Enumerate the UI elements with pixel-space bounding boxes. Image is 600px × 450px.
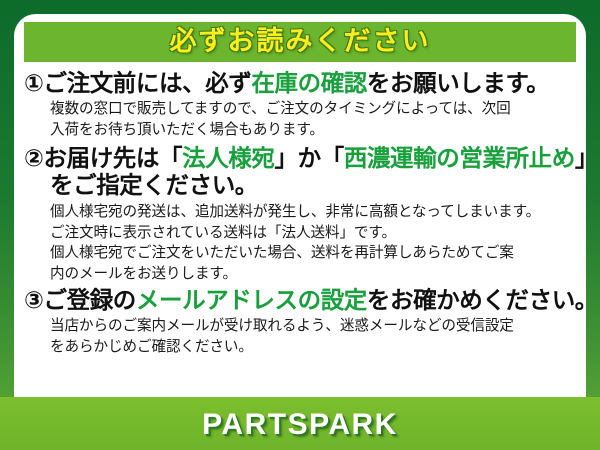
notice-item-2-sub-line-4: 内のメールをお送りします。 <box>50 264 576 285</box>
notice-item-2-part-5: 」 <box>575 144 586 172</box>
notice-item-1-marker: ① <box>24 69 44 97</box>
notice-item-3-part-3: をお確かめください。 <box>367 286 586 314</box>
brand-footer: PARTSPARK <box>0 397 600 450</box>
notice-item-1-sub: 複数の窓口で販売してますので、ご注文のタイミングによっては、次回 入荷をお待ち頂… <box>24 99 576 140</box>
title-band: 必ずお読みください <box>24 22 576 62</box>
notice-item-2-sub-line-1: 個人様宅宛の発送は、追加送料が発生し、非常に高額となってしまいます。 <box>50 202 576 223</box>
notice-item-2-part-3: 」か「 <box>275 144 344 172</box>
notice-item-1-sub-line-1: 複数の窓口で販売してますので、ご注文のタイミングによっては、次回 <box>50 99 576 120</box>
notice-item-3-part-1: ご登録の <box>44 286 136 314</box>
notice-item-3-sub: 当店からのご案内メールが受け取れるよう、迷惑メールなどの受信設定 をあらかじめご… <box>24 316 576 357</box>
notice-item-2-marker: ② <box>24 144 44 172</box>
notice-item-2-highlight-2: 西濃運輸の営業所止め <box>344 144 575 172</box>
notice-item-2-sub-line-3: 個人様宅宛でご注文をいただいた場合、送料を再計算しあらためてご案 <box>50 243 576 264</box>
notice-item-1-headline: ①ご注文前には、必ず在庫の確認をお願いします。 <box>24 70 576 97</box>
notice-item-2-headline: ②お届け先は「法人様宛」か「西濃運輸の営業所止め」 <box>24 145 576 172</box>
notice-item-2-headline-line2: をご指定ください。 <box>24 172 576 199</box>
notice-item-1-part-3: をお願いします。 <box>367 69 549 97</box>
notice-item-2-sub: 個人様宅宛の発送は、追加送料が発生し、非常に高額となってしまいます。 ご注文時に… <box>24 202 576 285</box>
notice-banner: 必ずお読みください ①ご注文前には、必ず在庫の確認をお願いします。 複数の窓口で… <box>0 0 600 450</box>
notice-body: ①ご注文前には、必ず在庫の確認をお願いします。 複数の窓口で販売してますので、ご… <box>14 66 586 365</box>
notice-item-3-marker: ③ <box>24 286 44 314</box>
notice-item-2-highlight-1: 法人様宛 <box>182 144 274 172</box>
notice-item-1-highlight: 在庫の確認 <box>251 69 367 97</box>
notice-item-2: ②お届け先は「法人様宛」か「西濃運輸の営業所止め」 をご指定ください。 個人様宅… <box>24 145 576 285</box>
notice-item-3-headline: ③ご登録のメールアドレスの設定をお確かめください。 <box>24 287 576 314</box>
notice-item-2-sub-line-2: ご注文時に表示されている送料は「法人送料」です。 <box>50 223 576 244</box>
banner-title: 必ずお読みください <box>170 28 431 57</box>
notice-item-1-sub-line-2: 入荷をお待ち頂いただく場合もあります。 <box>50 120 576 141</box>
notice-item-2-part-1: お届け先は「 <box>44 144 183 172</box>
notice-item-3-highlight: メールアドレスの設定 <box>136 286 367 314</box>
notice-item-1: ①ご注文前には、必ず在庫の確認をお願いします。 複数の窓口で販売してますので、ご… <box>24 70 576 141</box>
brand-logo: PARTSPARK <box>202 408 398 440</box>
notice-item-3: ③ご登録のメールアドレスの設定をお確かめください。 当店からのご案内メールが受け… <box>24 287 576 358</box>
notice-item-1-part-1: ご注文前には、必ず <box>44 69 252 97</box>
notice-item-3-sub-line-1: 当店からのご案内メールが受け取れるよう、迷惑メールなどの受信設定 <box>50 316 576 337</box>
notice-item-3-sub-line-2: をあらかじめご確認ください。 <box>50 337 576 358</box>
notice-card: 必ずお読みください ①ご注文前には、必ず在庫の確認をお願いします。 複数の窓口で… <box>14 14 586 418</box>
